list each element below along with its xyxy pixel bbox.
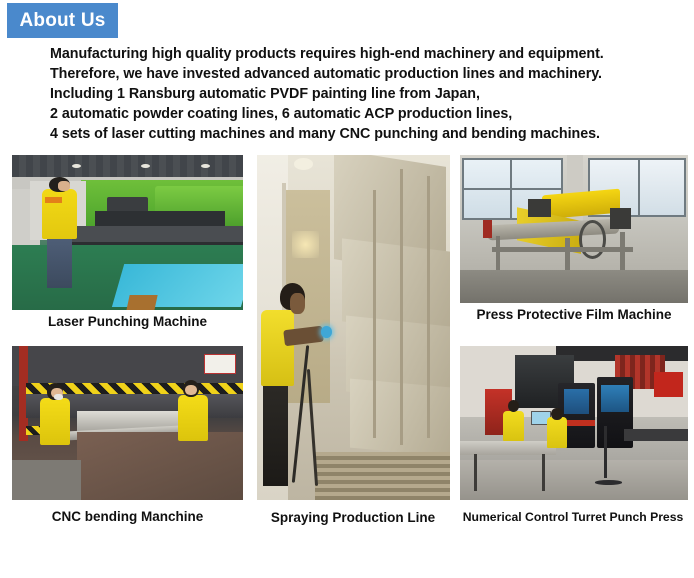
roller-bearing — [610, 208, 631, 229]
conveyor-rail — [315, 452, 450, 500]
cable-coil — [579, 220, 606, 258]
window-mullion — [462, 188, 562, 190]
intro-line-5: 4 sets of laser cutting machines and man… — [50, 124, 690, 144]
red-safety-sign — [654, 372, 684, 397]
stanchion-pole — [604, 426, 607, 478]
worker-yellow-shirt — [261, 310, 294, 386]
gallery-item-laser-punching[interactable] — [12, 155, 243, 310]
warning-sign — [204, 354, 236, 374]
gallery-item-cnc-bending[interactable] — [12, 346, 243, 500]
stanchion-base — [595, 480, 622, 485]
caption-press-protective-film: Press Protective Film Machine — [458, 308, 690, 322]
caption-cnc-bending: CNC bending Manchine — [12, 510, 243, 524]
worker-yellow-shirt — [40, 398, 70, 444]
machine-worktable — [72, 226, 243, 243]
turret-punch-press-photo — [460, 346, 688, 500]
worker-head — [551, 408, 562, 420]
spraying-production-line-photo — [257, 155, 450, 500]
gallery-item-spraying-production-line[interactable] — [257, 155, 450, 500]
ceiling-lamp-icon — [294, 158, 313, 170]
bench-leg — [474, 454, 477, 491]
worker-yellow-shirt — [547, 417, 568, 448]
window-mullion — [638, 158, 640, 217]
machine-frame-rail — [492, 247, 633, 252]
corridor-light-glow — [292, 231, 319, 259]
worker-face — [185, 385, 197, 396]
spray-gun-nozzle — [321, 326, 333, 338]
red-machine-post — [483, 220, 492, 238]
intro-line-4: 2 automatic powder coating lines, 6 auto… — [50, 104, 690, 124]
worker-face — [58, 181, 70, 190]
panel-hanger — [400, 169, 403, 445]
rusty-steel-plate — [77, 432, 243, 500]
worker-legs — [263, 383, 288, 487]
laser-punching-photo — [12, 155, 243, 310]
cnc-bending-photo — [12, 346, 243, 500]
roller-bearing — [528, 199, 551, 217]
press-protective-film-photo — [460, 155, 688, 303]
face-mask — [54, 394, 63, 400]
intro-line-3: Including 1 Ransburg automatic PVDF pain… — [50, 84, 690, 104]
shirt-logo — [45, 197, 61, 203]
panel-hanger — [427, 176, 430, 438]
worker-yellow-shirt — [178, 395, 208, 441]
caption-spraying-production-line: Spraying Production Line — [253, 511, 453, 525]
worker-face — [290, 293, 305, 314]
material-table — [624, 429, 688, 441]
gallery-item-press-protective-film[interactable] — [460, 155, 688, 303]
caption-turret-punch-press: Numerical Control Turret Punch Press — [452, 511, 694, 523]
intro-line-2: Therefore, we have invested advanced aut… — [50, 64, 690, 84]
worker-yellow-shirt — [503, 411, 524, 442]
bench-leg — [542, 454, 545, 491]
wooden-pallet — [126, 295, 157, 311]
intro-line-1: Manufacturing high quality products requ… — [50, 44, 690, 64]
caption-laser-punching: Laser Punching Machine — [12, 315, 243, 329]
intro-paragraph: Manufacturing high quality products requ… — [50, 44, 690, 144]
gallery-item-turret-punch-press[interactable] — [460, 346, 688, 500]
cnc-screen — [564, 389, 589, 414]
about-us-badge: About Us — [7, 3, 118, 38]
about-us-badge-label: About Us — [19, 11, 105, 30]
factory-floor — [12, 460, 81, 500]
worker-legs — [47, 236, 72, 289]
factory-floor — [460, 270, 688, 303]
factory-floor — [460, 460, 688, 500]
factory-photo-gallery: Laser Punching Machine Press Protective … — [0, 150, 694, 550]
cnc-screen — [601, 385, 628, 413]
panel-hanger — [373, 190, 376, 438]
